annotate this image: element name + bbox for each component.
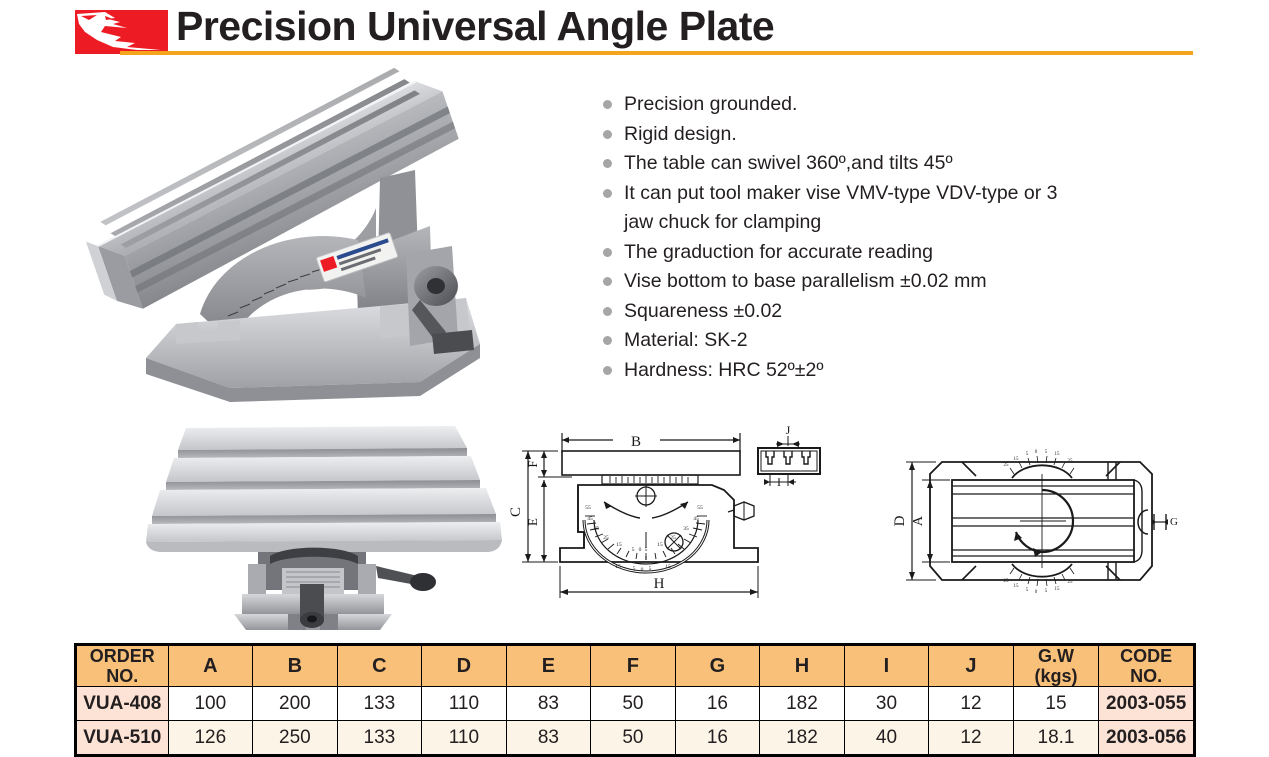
cell-i: 30: [844, 687, 929, 721]
cell-j: 12: [929, 721, 1014, 756]
bullet-dot-icon: [603, 366, 612, 375]
svg-text:B: B: [631, 434, 641, 450]
specification-table: ORDER NO. A B C D E F G H I J G.W (kgs) …: [74, 643, 1196, 757]
svg-text:5: 5: [633, 566, 636, 572]
product-photo-front-view: [130, 418, 505, 633]
svg-text:45: 45: [587, 516, 593, 522]
cell-a: 100: [168, 687, 253, 721]
cell-f: 50: [591, 721, 676, 756]
cell-order-no: VUA-510: [76, 721, 169, 756]
svg-text:0: 0: [639, 547, 642, 553]
cell-b: 250: [253, 721, 338, 756]
svg-text:15: 15: [1055, 587, 1061, 592]
list-item: Material: SK-2: [600, 326, 1070, 356]
header-line-2: NO.: [77, 666, 168, 686]
svg-text:J: J: [786, 423, 791, 437]
svg-text:25: 25: [1004, 463, 1010, 468]
column-header-gross-weight: G.W (kgs): [1013, 645, 1099, 687]
feature-text: Hardness: HRC 52º±2º: [624, 359, 823, 381]
bullet-dot-icon: [603, 100, 612, 109]
column-header-d: D: [422, 645, 507, 687]
list-item: Precision grounded.: [600, 90, 1070, 120]
cell-j: 12: [929, 687, 1014, 721]
header-line-2: NO.: [1099, 666, 1193, 686]
svg-text:25: 25: [670, 535, 676, 541]
feature-text: Rigid design.: [624, 123, 737, 145]
svg-text:15: 15: [1014, 457, 1020, 462]
svg-text:C: C: [508, 507, 524, 517]
feature-text: The graduction for accurate reading: [624, 241, 933, 263]
list-item: It can put tool maker vise VMV-type VDV-…: [600, 179, 1070, 238]
svg-text:H: H: [654, 576, 665, 592]
cell-e: 83: [506, 687, 591, 721]
column-header-a: A: [168, 645, 253, 687]
front-elevation-drawing: B: [500, 420, 840, 630]
svg-text:5: 5: [1045, 450, 1048, 455]
cell-g: 16: [675, 687, 760, 721]
svg-text:5: 5: [649, 566, 652, 572]
svg-text:E: E: [525, 518, 540, 526]
bullet-dot-icon: [603, 130, 612, 139]
svg-text:0: 0: [1035, 590, 1038, 595]
product-photo-angled-view: [80, 58, 570, 403]
list-item: The table can swivel 360º,and tilts 45º: [600, 149, 1070, 179]
feature-text: It can put tool maker vise VMV-type VDV-…: [624, 182, 1058, 234]
svg-text:I: I: [777, 475, 781, 489]
svg-text:25: 25: [1068, 459, 1074, 464]
svg-text:45: 45: [693, 516, 699, 522]
svg-text:15: 15: [616, 542, 622, 548]
cell-code-no: 2003-055: [1099, 687, 1195, 721]
header-line-1: G.W: [1014, 646, 1099, 666]
svg-text:55: 55: [697, 505, 703, 511]
svg-text:0: 0: [1035, 450, 1038, 455]
svg-text:5: 5: [1026, 452, 1029, 457]
svg-text:D: D: [892, 515, 908, 526]
table-row: VUA-408 100 200 133 110 83 50 16 182 30 …: [76, 687, 1195, 721]
column-header-b: B: [253, 645, 338, 687]
svg-text:15: 15: [657, 542, 663, 548]
eagle-head-logo-icon: [75, 10, 168, 54]
cell-g: 16: [675, 721, 760, 756]
column-header-i: I: [844, 645, 929, 687]
svg-text:15: 15: [1055, 452, 1061, 457]
plan-view-drawing: 25 15 5 0 5 15 25 25 15 5 0 5 15 25: [890, 440, 1180, 610]
cell-c: 133: [337, 721, 422, 756]
header-line-1: ORDER: [77, 646, 168, 666]
bullet-dot-icon: [603, 189, 612, 198]
cell-a: 126: [168, 721, 253, 756]
cell-h: 182: [760, 687, 845, 721]
svg-text:15: 15: [1014, 584, 1020, 589]
list-item: The graduction for accurate reading: [600, 238, 1070, 268]
svg-text:0: 0: [641, 567, 644, 573]
svg-text:15: 15: [665, 564, 671, 570]
cell-code-no: 2003-056: [1099, 721, 1195, 756]
cell-gross-weight: 18.1: [1013, 721, 1099, 756]
bullet-dot-icon: [603, 277, 612, 286]
svg-text:25: 25: [1004, 579, 1010, 584]
cell-d: 110: [422, 687, 507, 721]
svg-text:A: A: [911, 515, 926, 526]
page-title: Precision Universal Angle Plate: [176, 3, 774, 49]
list-item: Vise bottom to base parallelism ±0.02 mm: [600, 267, 1070, 297]
title-underline-rule: [120, 51, 1193, 55]
feature-text: Squareness ±0.02: [624, 300, 782, 322]
list-item: Rigid design.: [600, 120, 1070, 150]
feature-text: The table can swivel 360º,and tilts 45º: [624, 152, 953, 174]
cell-order-no: VUA-408: [76, 687, 169, 721]
cell-d: 110: [422, 721, 507, 756]
cell-gross-weight: 15: [1013, 687, 1099, 721]
feature-text: Material: SK-2: [624, 329, 748, 351]
column-header-code-no: CODE NO.: [1099, 645, 1195, 687]
list-item: Squareness ±0.02: [600, 297, 1070, 327]
column-header-e: E: [506, 645, 591, 687]
column-header-j: J: [929, 645, 1014, 687]
page-header: Precision Universal Angle Plate: [0, 0, 1269, 60]
cell-i: 40: [844, 721, 929, 756]
feature-text: Vise bottom to base parallelism ±0.02 mm: [624, 270, 987, 292]
column-header-h: H: [760, 645, 845, 687]
column-header-order-no: ORDER NO.: [76, 645, 169, 687]
svg-text:5: 5: [632, 547, 635, 553]
svg-text:5: 5: [1045, 589, 1048, 594]
bullet-dot-icon: [603, 159, 612, 168]
cell-b: 200: [253, 687, 338, 721]
bullet-dot-icon: [603, 248, 612, 257]
column-header-g: G: [675, 645, 760, 687]
feature-list: Precision grounded. Rigid design. The ta…: [600, 90, 1070, 385]
list-item: Hardness: HRC 52º±2º: [600, 356, 1070, 386]
table-header-row: ORDER NO. A B C D E F G H I J G.W (kgs) …: [76, 645, 1195, 687]
column-header-f: F: [591, 645, 676, 687]
cell-h: 182: [760, 721, 845, 756]
svg-text:35: 35: [593, 526, 599, 532]
feature-text: Precision grounded.: [624, 93, 797, 115]
tslot-detail-drawing: J I: [758, 423, 820, 489]
cell-c: 133: [337, 687, 422, 721]
svg-text:25: 25: [1068, 580, 1074, 585]
cell-f: 50: [591, 687, 676, 721]
svg-text:15: 15: [615, 564, 621, 570]
svg-text:F: F: [525, 460, 540, 467]
bullet-dot-icon: [603, 307, 612, 316]
svg-text:G: G: [1170, 516, 1178, 528]
header-line-2: (kgs): [1014, 666, 1099, 686]
table-row: VUA-510 126 250 133 110 83 50 16 182 40 …: [76, 721, 1195, 756]
cell-e: 83: [506, 721, 591, 756]
svg-text:5: 5: [1026, 588, 1029, 593]
svg-text:55: 55: [585, 505, 591, 511]
svg-text:25: 25: [603, 535, 609, 541]
column-header-c: C: [337, 645, 422, 687]
svg-text:35: 35: [683, 526, 689, 532]
bullet-dot-icon: [603, 336, 612, 345]
header-line-1: CODE: [1099, 646, 1193, 666]
